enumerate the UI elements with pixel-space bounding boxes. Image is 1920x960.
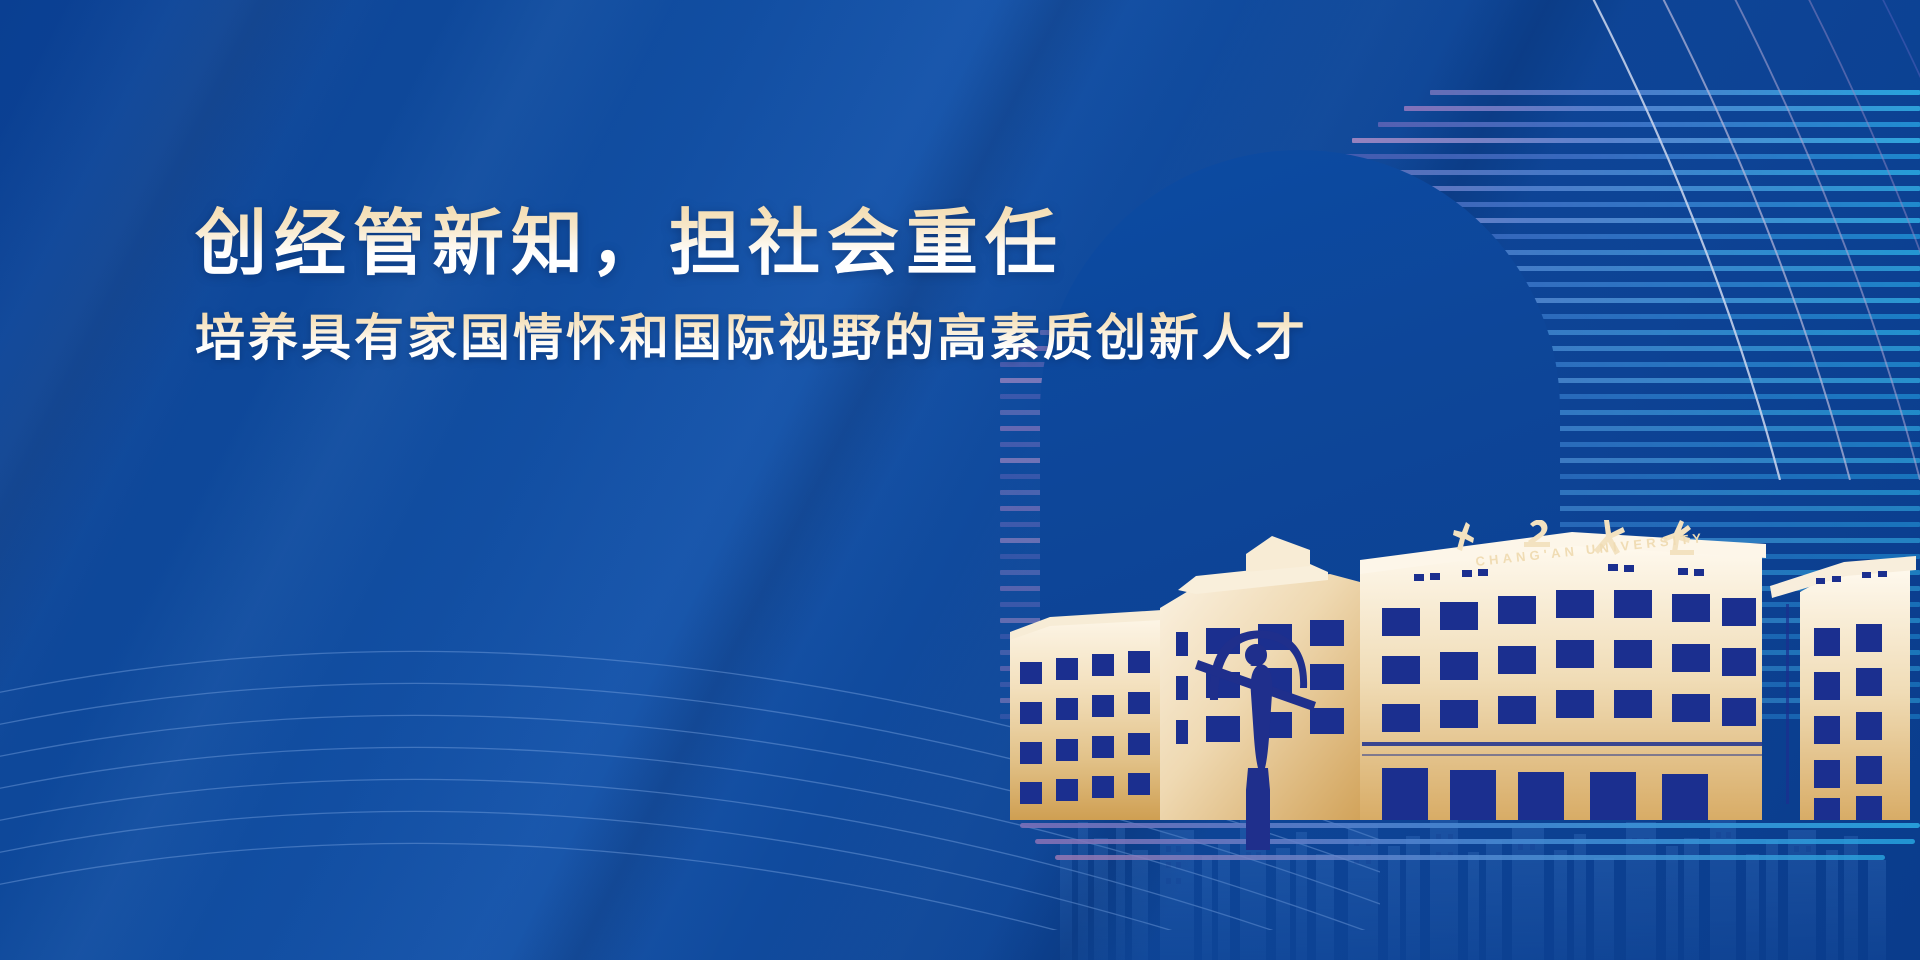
page-title: 创经管新知，担社会重任: [195, 205, 1395, 284]
headline-block: 创经管新知，担社会重任 培养具有家国情怀和国际视野的高素质创新人才: [195, 205, 1395, 366]
skyline-rule-3: [1055, 855, 1885, 860]
campus-buildings: CHANG'AN UNIVERSITY: [1010, 520, 1920, 850]
right-wing-building: [1770, 556, 1916, 820]
banner-canvas: CHANG'AN UNIVERSITY 创经管新知，担社会重任 培养具有家国情怀…: [0, 0, 1920, 960]
page-subtitle: 培养具有家国情怀和国际视野的高素质创新人才: [195, 310, 1395, 366]
left-wing-building: [1010, 610, 1162, 820]
